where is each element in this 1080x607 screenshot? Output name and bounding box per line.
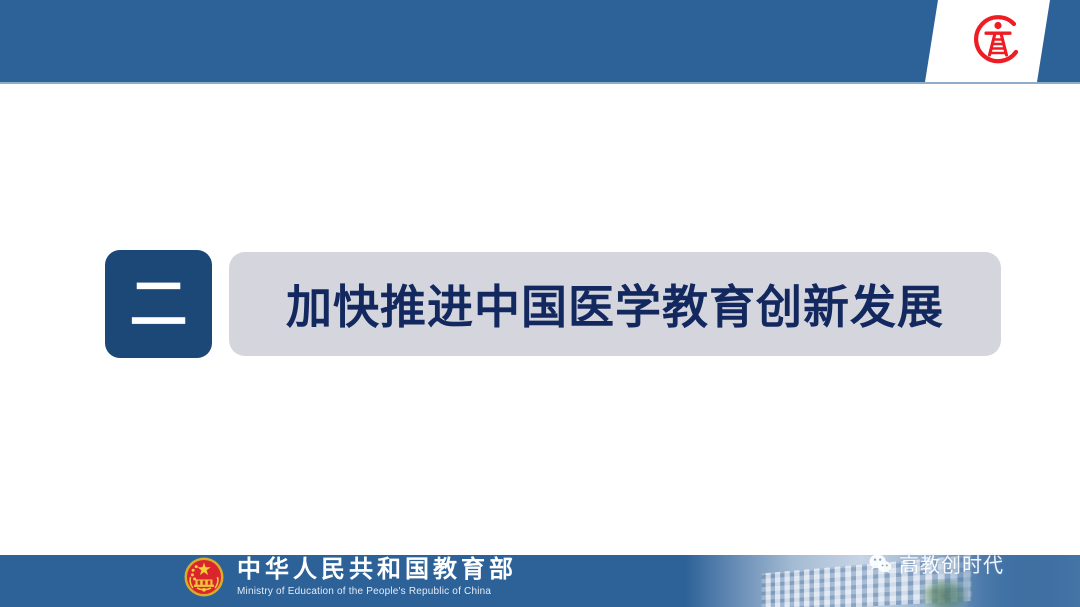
china-national-emblem-icon <box>183 556 225 598</box>
section-title-text: 加快推进中国医学教育创新发展 <box>286 271 944 337</box>
ministry-name-cn: 中华人民共和国教育部 <box>237 556 517 582</box>
slide-body: 二 加快推进中国医学教育创新发展 <box>0 84 1080 555</box>
header-band <box>0 0 1080 82</box>
section-numeral-badge: 二 <box>105 250 212 358</box>
red-circle-tower-logo-icon <box>962 4 1034 76</box>
wechat-icon <box>868 552 892 576</box>
section-numeral-text: 二 <box>129 275 187 333</box>
section-title-box: 加快推进中国医学教育创新发展 <box>229 252 1001 356</box>
watermark-text: 高教创时代 <box>899 549 1004 578</box>
ministry-name-en: Ministry of Education of the People's Re… <box>237 585 517 598</box>
slide-canvas: 二 加快推进中国医学教育创新发展 <box>0 0 1080 607</box>
section-heading-row: 二 加快推进中国医学教育创新发展 <box>105 250 1001 358</box>
ministry-text-block: 中华人民共和国教育部 Ministry of Education of the … <box>237 556 517 597</box>
wechat-watermark: 高教创时代 <box>868 549 1004 578</box>
ministry-branding: 中华人民共和国教育部 Ministry of Education of the … <box>183 556 517 598</box>
